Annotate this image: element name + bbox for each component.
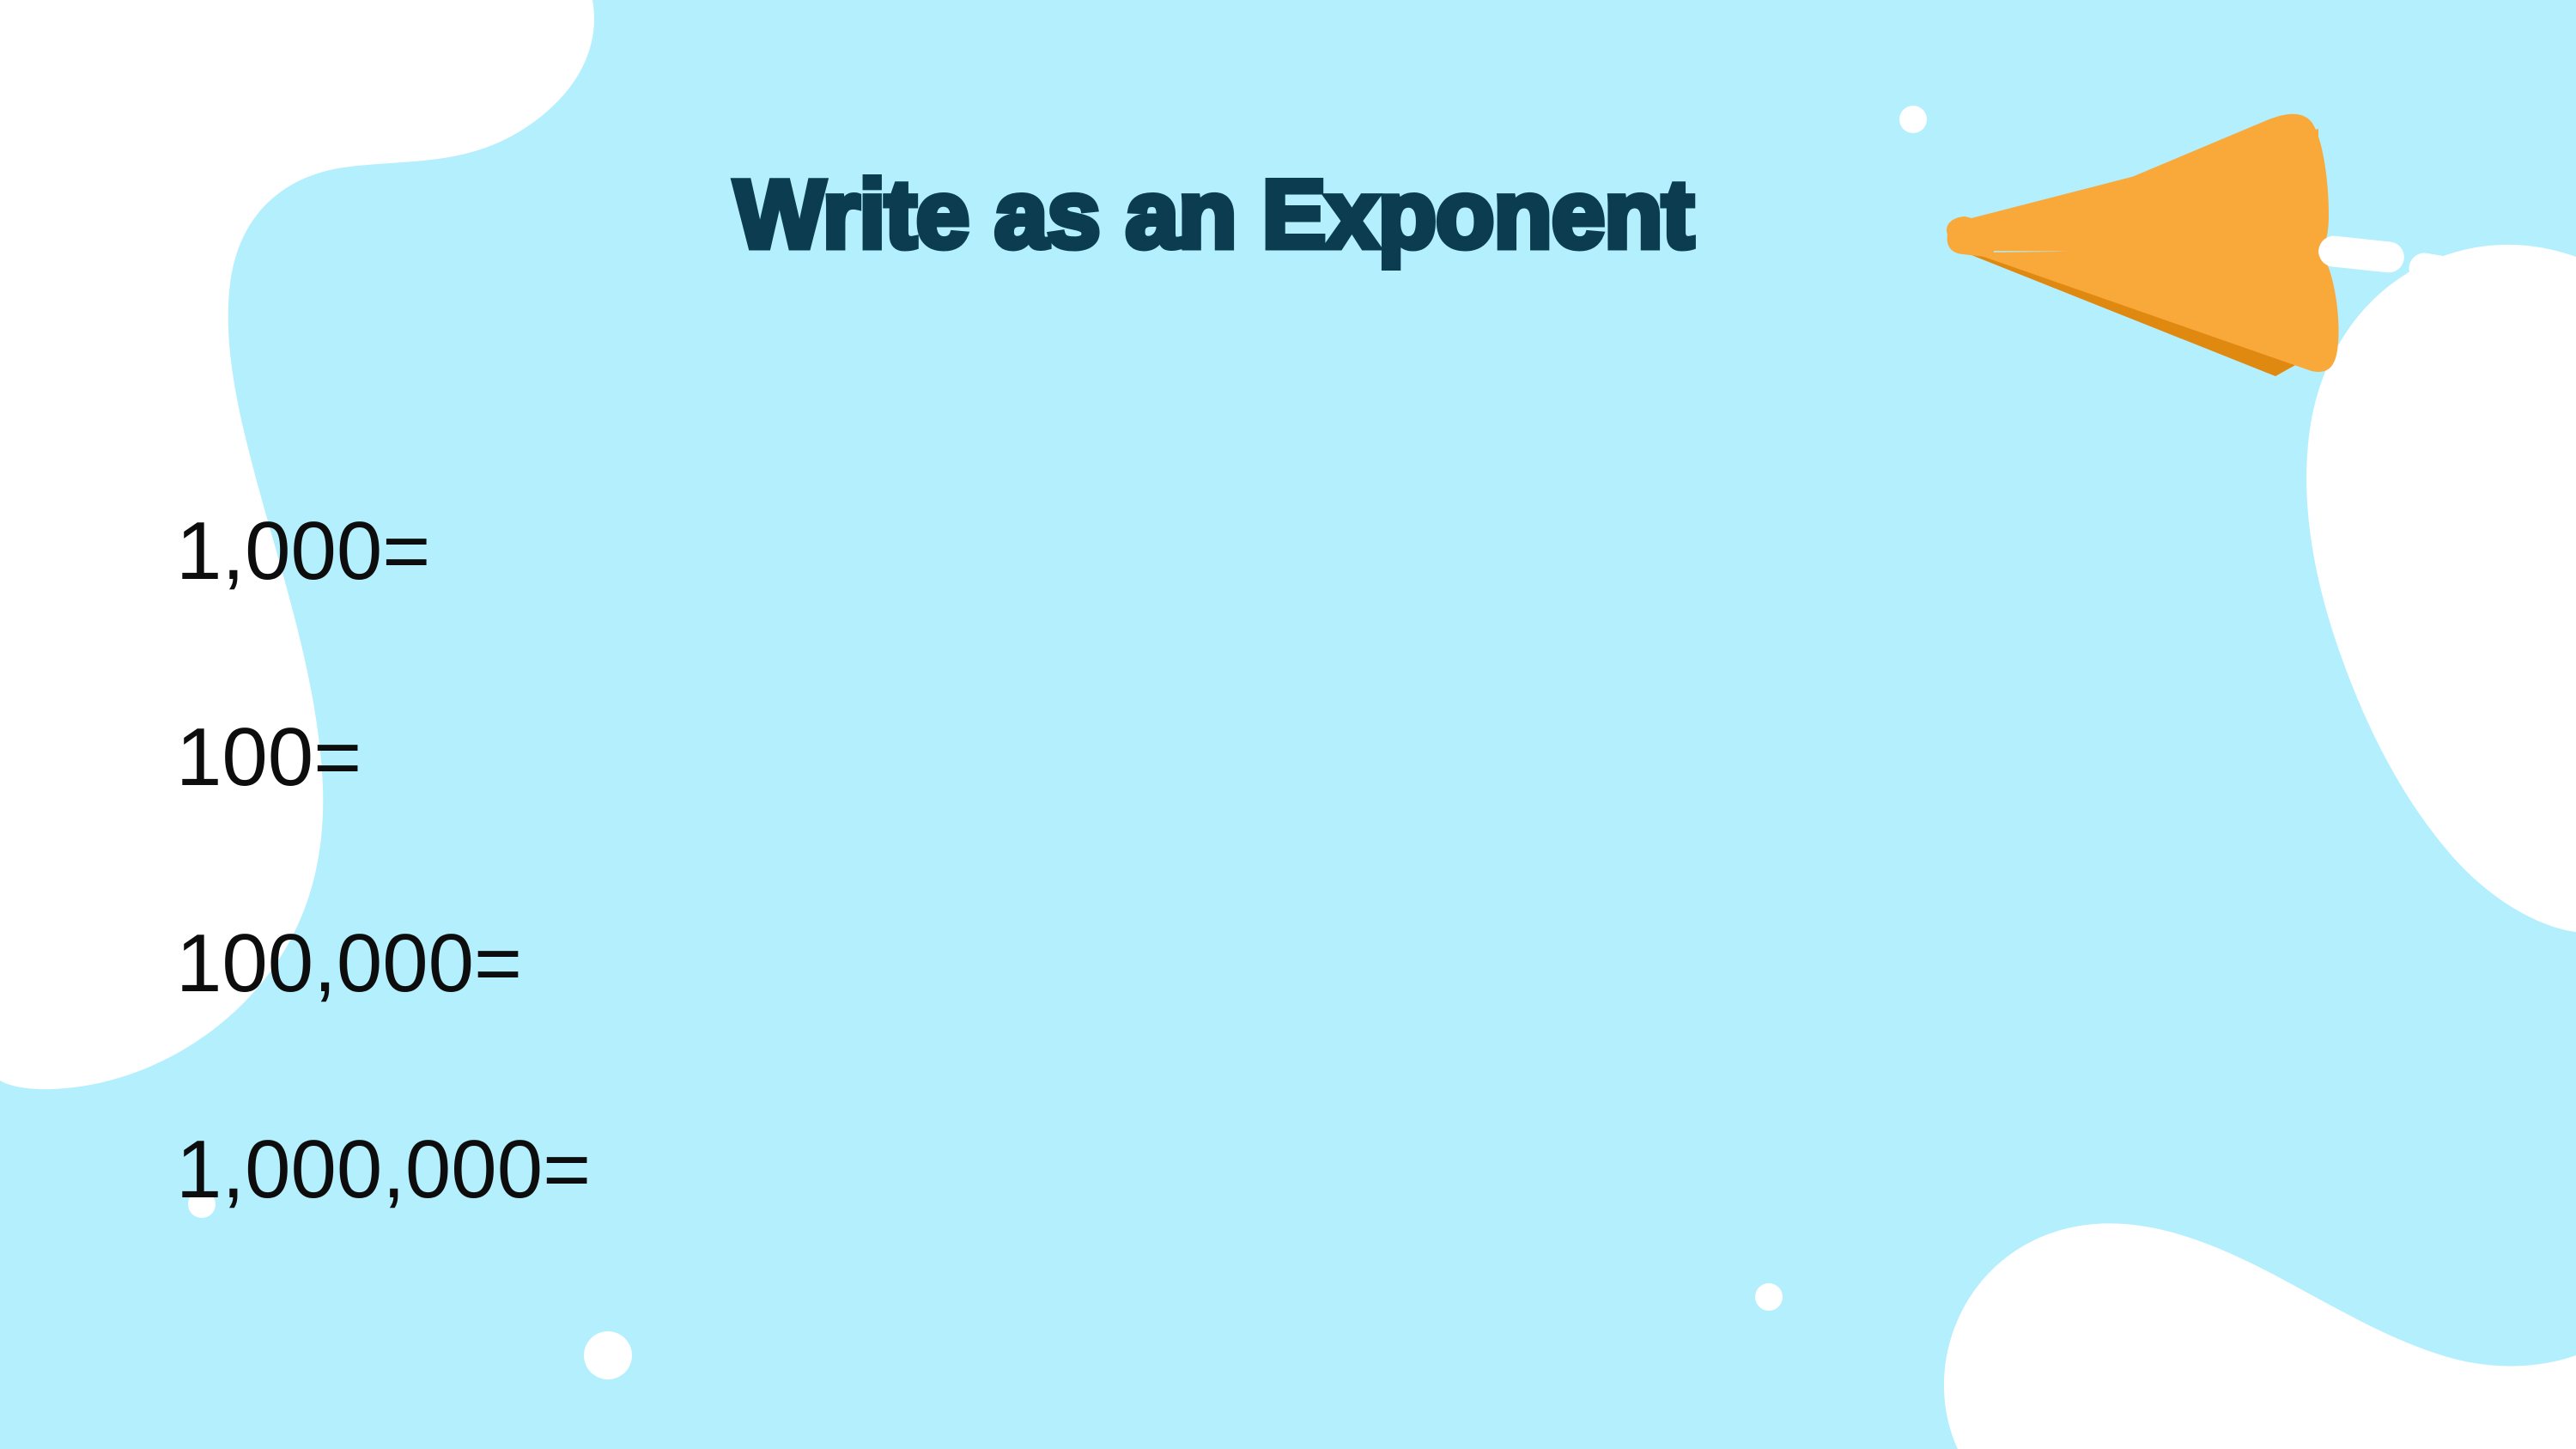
problem-item: 100,000=: [176, 861, 1550, 1067]
page-title: Write as an Exponent: [734, 159, 1693, 270]
paper-plane-icon: [1947, 114, 2339, 376]
blob-bottom-left-lobe: [1944, 1223, 2576, 1449]
problem-item: 1,000,000=: [176, 1067, 1550, 1273]
blob-bottom-right: [2306, 245, 2576, 1449]
problem-item: 100=: [176, 654, 1550, 861]
problem-item: 1,000=: [176, 448, 1550, 654]
dot-2: [2518, 567, 2547, 596]
slide-canvas: Write as an Exponent 1,000= 100= 100,000…: [0, 0, 2576, 1449]
dot-3: [88, 679, 135, 726]
dot-1: [1899, 106, 1927, 133]
dot-6: [584, 1331, 632, 1379]
problem-list: 1,000= 100= 100,000= 1,000,000=: [176, 448, 1550, 1273]
dot-5: [1755, 1283, 1783, 1311]
